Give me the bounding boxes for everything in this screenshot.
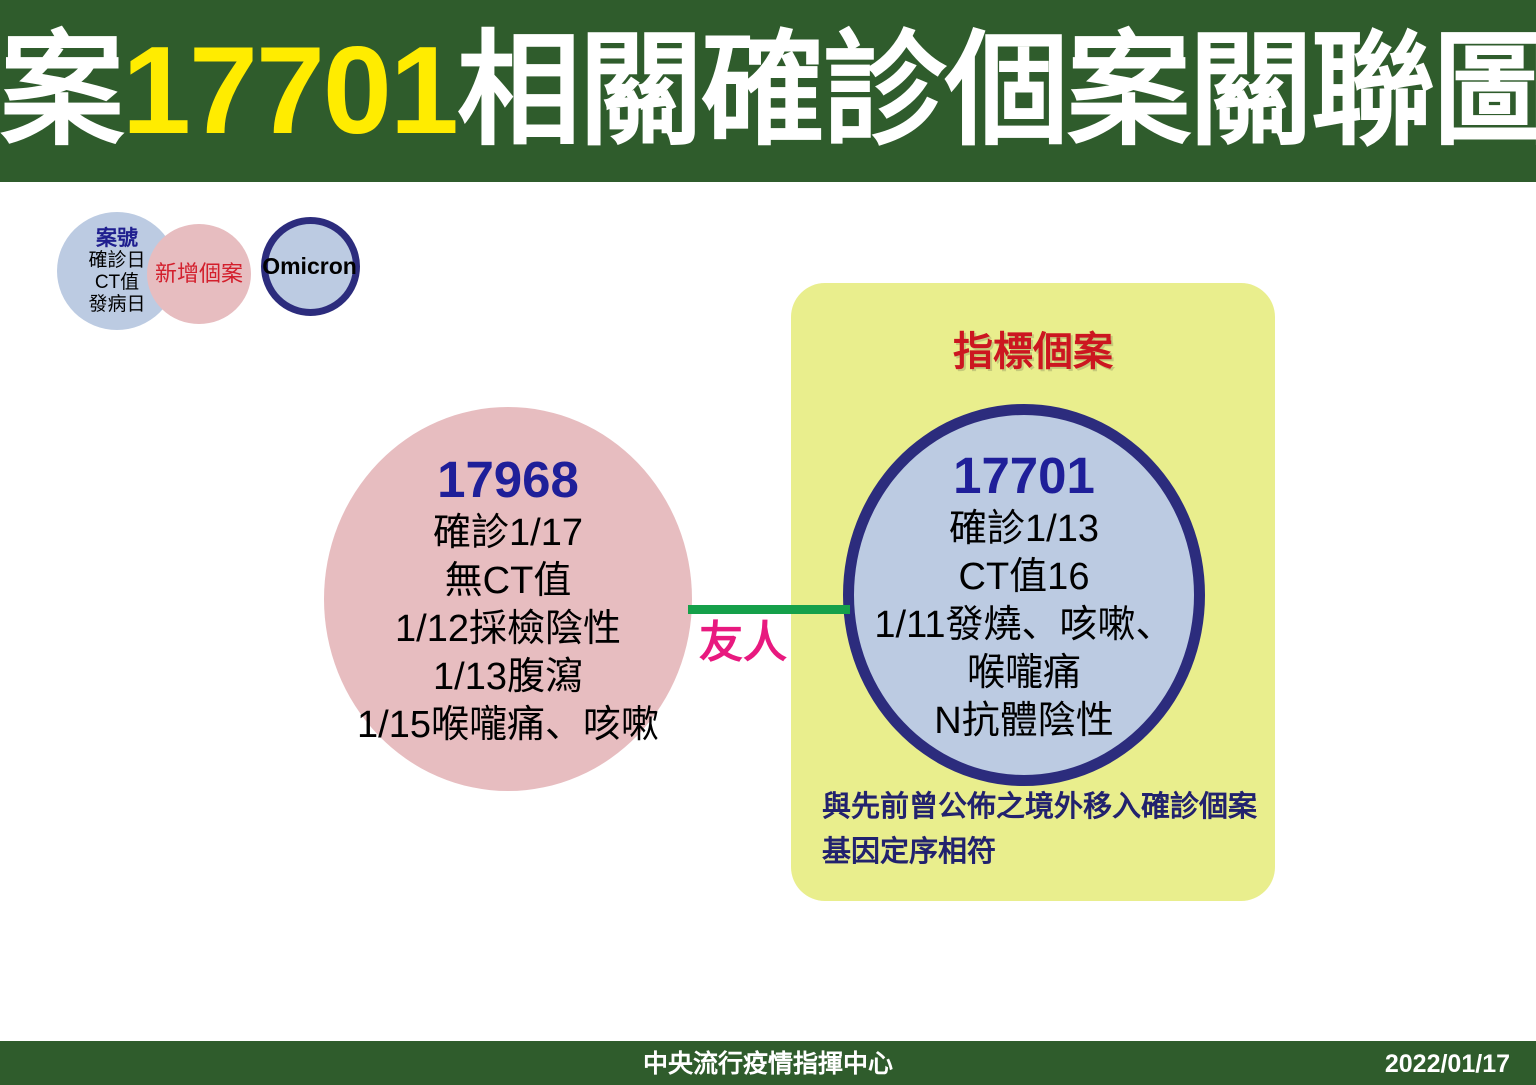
case-right-line-5: N抗體陰性 (814, 697, 1234, 745)
relationship-label: 友人 (683, 617, 803, 669)
legend-key-line-2: CT值 (95, 272, 139, 294)
case-right-line-3: 1/11發燒、咳嗽、 (814, 601, 1234, 649)
page-title-prefix: 案 (0, 22, 122, 160)
footer-organization: 中央流行疫情指揮中心 (0, 1050, 1536, 1078)
page-title-case-number: 17701 (122, 22, 457, 160)
case-right-line-4: 喉嚨痛 (814, 649, 1234, 697)
footer-bar: 中央流行疫情指揮中心 2022/01/17 (0, 1041, 1536, 1085)
case-bubble-right: 17701 確診1/13 CT值16 1/11發燒、咳嗽、 喉嚨痛 N抗體陰性 (843, 404, 1205, 786)
legend-new-case-circle: 新增個案 (147, 224, 251, 324)
relationship-connector-line (688, 605, 850, 614)
case-left-line-1: 確診1/17 (284, 509, 732, 557)
case-bubble-left: 17968 確診1/17 無CT值 1/12採檢陰性 1/13腹瀉 1/15喉嚨… (324, 407, 692, 791)
legend-omicron-label: Omicron (262, 254, 357, 279)
page-title: 案17701相關確診個案關聯圖 (0, 16, 1536, 166)
case-left-id: 17968 (284, 451, 732, 509)
footer-date: 2022/01/17 (1385, 1050, 1510, 1078)
case-bubble-left-content: 17968 確診1/17 無CT值 1/12採檢陰性 1/13腹瀉 1/15喉嚨… (284, 451, 732, 749)
page-title-suffix: 相關確診個案關聯圖 (457, 22, 1536, 160)
case-right-id: 17701 (814, 447, 1234, 505)
legend-key-heading: 案號 (96, 227, 138, 250)
title-bar: 案17701相關確診個案關聯圖 (0, 0, 1536, 182)
case-left-line-4: 1/13腹瀉 (284, 653, 732, 701)
legend-key-line-3: 發病日 (88, 294, 145, 316)
index-case-note: 與先前曾公佈之境外移入確診個案基因定序相符 (822, 785, 1262, 875)
slide-canvas: 案17701相關確診個案關聯圖 案號 確診日 CT值 發病日 新增個案 Omic… (0, 0, 1536, 1085)
case-right-line-2: CT值16 (814, 553, 1234, 601)
legend-key-line-1: 確診日 (88, 250, 145, 272)
case-left-line-5: 1/15喉嚨痛、咳嗽 (284, 701, 732, 749)
case-right-line-1: 確診1/13 (814, 505, 1234, 553)
case-bubble-right-content: 17701 確診1/13 CT值16 1/11發燒、咳嗽、 喉嚨痛 N抗體陰性 (814, 447, 1234, 745)
index-case-title: 指標個案 (791, 329, 1275, 375)
legend-new-case-label: 新增個案 (155, 262, 243, 286)
legend-omicron-circle: Omicron (261, 217, 360, 316)
case-left-line-2: 無CT值 (284, 557, 732, 605)
case-left-line-3: 1/12採檢陰性 (284, 605, 732, 653)
